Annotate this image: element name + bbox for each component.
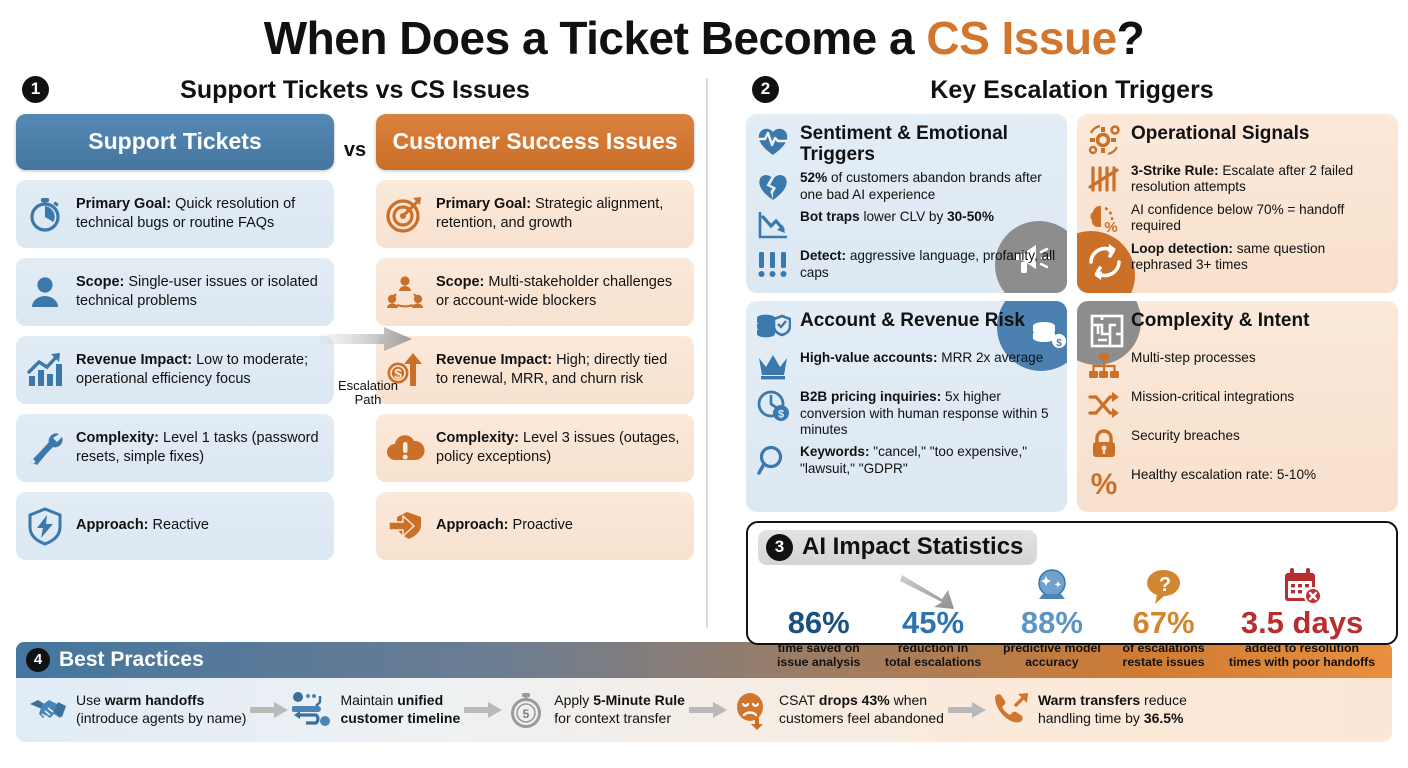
best-practice-item: Use warm handoffs (introduce agents by n… — [28, 690, 246, 730]
question-bubble-icon: ? — [1109, 567, 1218, 607]
stat-caption-line1: predictive model — [995, 641, 1109, 656]
brain-percent-icon: % — [1085, 200, 1123, 236]
stat-caption: of escalations restate issues — [1109, 641, 1218, 670]
panel-row-text: Mission-critical integrations — [1131, 387, 1294, 406]
user-icon — [24, 271, 66, 313]
table-row: Complexity: Level 1 tasks (password rese… — [16, 414, 334, 482]
table-row: $ Revenue Impact: High; directly tied to… — [376, 336, 694, 404]
escalation-label-line2: Path — [320, 393, 416, 408]
title-accent: CS Issue — [926, 12, 1116, 64]
table-row: Primary Goal: Quick resolution of techni… — [16, 180, 334, 248]
stat-caption: time saved on issue analysis — [766, 641, 871, 670]
bp-text-line2-bold: 36.5% — [1144, 710, 1184, 726]
panel-row-bold: 3-Strike Rule: — [1131, 163, 1219, 178]
panel-row-body: Healthy escalation rate: 5-10% — [1131, 467, 1316, 482]
bp-text-3: reduce — [1140, 692, 1187, 708]
flow-arrow-icon — [685, 702, 731, 718]
panel-row-bold2: 30-50% — [947, 209, 994, 224]
trigger-panels-row-2: $ Account & Revenue Risk High-value acco… — [746, 301, 1398, 512]
panel-row-text: Healthy escalation rate: 5-10% — [1131, 465, 1316, 484]
crystal-ball-icon — [995, 567, 1109, 607]
panel-row-text: Multi-step processes — [1131, 348, 1256, 367]
flow-arrow-icon — [246, 702, 292, 718]
svg-text:$: $ — [1056, 338, 1062, 349]
table-row: Revenue Impact: Low to moderate; operati… — [16, 336, 334, 404]
bp-text-bold: 5-Minute Rule — [593, 692, 685, 708]
stopwatch-5-icon: 5 — [506, 690, 546, 730]
best-practice-text: Warm transfers reduce handling time by 3… — [1038, 692, 1187, 727]
panel-heading-text: Sentiment & Emotional Triggers — [800, 122, 1057, 166]
section-3-badge: 3 — [766, 534, 793, 561]
cell-text: Complexity: Level 3 issues (outages, pol… — [436, 429, 682, 466]
panel-row: Mission-critical integrations — [1085, 387, 1388, 423]
bp-text-1: Maintain — [340, 692, 397, 708]
panel-complexity-intent: Complexity & Intent Multi-step processes… — [1077, 301, 1398, 512]
bp-text-bold: unified — [397, 692, 443, 708]
bp-text-line2: handling time by — [1038, 710, 1144, 726]
bar-chart-growth-icon — [24, 349, 66, 391]
percent-icon: % — [1085, 465, 1123, 501]
best-practice-text: CSAT drops 43% when customers feel aband… — [779, 692, 944, 727]
cell-text: Approach: Reactive — [76, 516, 209, 535]
cell-text: Primary Goal: Quick resolution of techni… — [76, 195, 322, 232]
escalation-label-line1: Escalation — [320, 379, 416, 394]
escalation-arrow-icon — [320, 326, 416, 352]
panel-row: $ B2B pricing inquiries: 5x higher conve… — [754, 387, 1057, 439]
panel-heading: Complexity & Intent — [1085, 309, 1388, 345]
bp-text-line2: customers feel abandoned — [779, 710, 944, 727]
stat-item: 3.5 days added to resolution times with … — [1218, 567, 1386, 670]
section-2-title: Key Escalation Triggers — [930, 76, 1213, 105]
panel-row-text: 3-Strike Rule: Escalate after 2 failed r… — [1131, 161, 1388, 196]
section-4-title: Best Practices — [59, 648, 204, 672]
section-4-badge: 4 — [26, 648, 50, 672]
bp-text-bold: warm handoffs — [105, 692, 205, 708]
panel-row: 3-Strike Rule: Escalate after 2 failed r… — [1085, 161, 1388, 197]
section-3-title: AI Impact Statistics — [802, 533, 1023, 561]
stat-caption-line1: of escalations — [1109, 641, 1218, 656]
bp-text-3: when — [890, 692, 927, 708]
cs-issues-column: Customer Success Issues Primary Goal: St… — [376, 114, 694, 560]
section-3-pill: 3 AI Impact Statistics — [758, 530, 1037, 565]
infographic-page: When Does a Ticket Become a CS Issue? 1 … — [0, 0, 1408, 768]
cell-label: Approach: — [436, 517, 509, 533]
stat-value: 45% — [871, 607, 994, 640]
bp-text-1: Use — [76, 692, 105, 708]
stat-value: 86% — [766, 607, 871, 640]
panel-heading: Account & Revenue Risk — [754, 309, 1057, 345]
panel-sentiment: Sentiment & Emotional Triggers 52% of cu… — [746, 114, 1067, 294]
stat-value: 3.5 days — [1218, 607, 1386, 640]
stat-icon-placeholder — [766, 567, 871, 607]
stat-caption: predictive model accuracy — [995, 641, 1109, 670]
panel-operational: Operational Signals 3-Strike Rule: Escal… — [1077, 114, 1398, 294]
escalation-path: Escalation Path — [320, 326, 416, 409]
escalation-path-label: Escalation Path — [320, 379, 416, 409]
stat-value: 67% — [1109, 607, 1218, 640]
cell-body: Proactive — [509, 517, 573, 533]
cell-label: Approach: — [76, 517, 149, 533]
panel-row-body: lower CLV by — [860, 209, 947, 224]
bp-text-line2-bold: customer timeline — [340, 710, 460, 726]
panel-row: Multi-step processes — [1085, 348, 1388, 384]
panel-row-bold: Detect: — [800, 248, 846, 263]
down-right-arrow-icon — [871, 567, 994, 607]
svg-text:?: ? — [1158, 574, 1170, 596]
panel-row-bold: High-value accounts: — [800, 350, 937, 365]
cell-label: Revenue Impact: — [436, 352, 552, 368]
panel-row: Loop detection: same question rephrased … — [1085, 239, 1388, 275]
section-2-badge: 2 — [752, 76, 779, 103]
best-practice-item: Warm transfers reduce handling time by 3… — [990, 690, 1187, 730]
cell-text: Scope: Multi-stakeholder challenges or a… — [436, 273, 682, 310]
stat-caption: added to resolution times with poor hand… — [1218, 641, 1386, 670]
bp-text-1: CSAT — [779, 692, 819, 708]
cell-text: Revenue Impact: High; directly tied to r… — [436, 351, 682, 388]
cell-text: Approach: Proactive — [436, 516, 573, 535]
hierarchy-icon — [1085, 348, 1123, 384]
panel-row-text: Bot traps lower CLV by 30-50% — [800, 207, 994, 226]
panel-row-body: Mission-critical integrations — [1131, 389, 1294, 404]
stat-caption-line1: added to resolution — [1218, 641, 1386, 656]
cell-label: Scope: — [76, 274, 124, 290]
panel-row-text: B2B pricing inquiries: 5x higher convers… — [800, 387, 1057, 439]
page-title: When Does a Ticket Become a CS Issue? — [16, 0, 1392, 68]
panel-row: Detect: aggressive language, profanity, … — [754, 246, 1057, 282]
title-part-2: ? — [1117, 12, 1145, 64]
section-2-header: 2 Key Escalation Triggers — [746, 74, 1398, 108]
best-practices-flow: Use warm handoffs (introduce agents by n… — [16, 678, 1392, 742]
panel-row-bold: 52% — [800, 170, 827, 185]
tools-icon — [24, 427, 66, 469]
section-1-title: Support Tickets vs CS Issues — [180, 76, 530, 105]
stat-caption-line1: time saved on — [766, 641, 871, 656]
best-practice-text: Use warm handoffs (introduce agents by n… — [76, 692, 246, 727]
panel-row-body: Security breaches — [1131, 428, 1240, 443]
table-row: Approach: Reactive — [16, 492, 334, 560]
main-columns: 1 Support Tickets vs CS Issues Support T… — [16, 74, 1392, 634]
panel-heading: Sentiment & Emotional Triggers — [754, 122, 1057, 166]
stat-caption-line2: total escalations — [871, 655, 994, 670]
panel-row-text: Detect: aggressive language, profanity, … — [800, 246, 1057, 281]
table-row: Scope: Multi-stakeholder challenges or a… — [376, 258, 694, 326]
magnifier-icon — [754, 442, 792, 478]
best-practice-text: Maintain unified customer timeline — [340, 692, 460, 727]
bp-text-bold: drops 43% — [819, 692, 890, 708]
cell-label: Revenue Impact: — [76, 352, 192, 368]
panel-row: 52% of customers abandon brands after on… — [754, 168, 1057, 204]
panel-row-bold: B2B pricing inquiries: — [800, 389, 941, 404]
panel-row-bold: Keywords: — [800, 444, 870, 459]
phone-up-arrow-icon — [990, 690, 1030, 730]
flow-arrow-icon — [944, 702, 990, 718]
section-3-header: 3 AI Impact Statistics — [758, 530, 1386, 565]
stat-item: 45% reduction in total escalations — [871, 567, 994, 670]
panel-row-body: MRR 2x average — [937, 350, 1043, 365]
cs-issues-header: Customer Success Issues — [376, 114, 694, 170]
section-1-badge: 1 — [22, 76, 49, 103]
crown-icon — [754, 348, 792, 384]
panel-heading: Operational Signals — [1085, 122, 1388, 158]
panel-row: % AI confidence below 70% = handoff requ… — [1085, 200, 1388, 236]
panel-row-body: AI confidence below 70% = handoff requir… — [1131, 202, 1344, 234]
section-support-vs-cs: 1 Support Tickets vs CS Issues Support T… — [16, 74, 694, 634]
stat-caption-line2: times with poor handoffs — [1218, 655, 1386, 670]
panel-row-text: High-value accounts: MRR 2x average — [800, 348, 1043, 367]
clock-money-icon: $ — [754, 387, 792, 423]
bp-text-bold: Warm transfers — [1038, 692, 1140, 708]
vs-label: vs — [344, 139, 366, 162]
coins-shield-icon — [754, 309, 792, 345]
handshake-icon — [28, 690, 68, 730]
gears-cycle-icon — [1085, 122, 1123, 158]
table-row: Approach: Proactive — [376, 492, 694, 560]
panel-row-text: Loop detection: same question rephrased … — [1131, 239, 1388, 274]
svg-text:$: $ — [778, 409, 784, 421]
cloud-alert-icon — [384, 427, 426, 469]
panel-heading-text: Complexity & Intent — [1131, 309, 1309, 331]
cell-label: Complexity: — [436, 430, 519, 446]
panel-heading-text: Account & Revenue Risk — [800, 309, 1025, 331]
support-tickets-column: Support Tickets Primary Goal: Quick reso… — [16, 114, 334, 560]
sad-face-down-icon — [731, 690, 771, 730]
stats-row: 86% time saved on issue analysis — [758, 567, 1386, 670]
exclamation-marks-icon — [754, 246, 792, 282]
timeline-flow-icon — [292, 690, 332, 730]
stat-caption-line2: issue analysis — [766, 655, 871, 670]
panel-row: % Healthy escalation rate: 5-10% — [1085, 465, 1388, 501]
cell-label: Primary Goal: — [436, 196, 531, 212]
table-row: Complexity: Level 3 issues (outages, pol… — [376, 414, 694, 482]
panel-row-text: 52% of customers abandon brands after on… — [800, 168, 1057, 203]
flow-arrow-icon — [460, 702, 506, 718]
stat-caption-line2: restate issues — [1109, 655, 1218, 670]
panel-row: High-value accounts: MRR 2x average — [754, 348, 1057, 384]
panel-account-revenue: $ Account & Revenue Risk High-value acco… — [746, 301, 1067, 512]
panel-row-body: of customers abandon brands after one ba… — [800, 170, 1042, 202]
svg-text:%: % — [1091, 468, 1118, 498]
shield-bolt-icon — [24, 505, 66, 547]
section-1-header: 1 Support Tickets vs CS Issues — [16, 74, 694, 108]
calendar-x-icon — [1218, 567, 1386, 607]
cell-label: Scope: — [436, 274, 484, 290]
trigger-panels-row-1: Sentiment & Emotional Triggers 52% of cu… — [746, 114, 1398, 294]
column-divider — [706, 78, 708, 628]
best-practice-text: Apply 5-Minute Rule for context transfer — [554, 692, 685, 727]
stat-caption: reduction in total escalations — [871, 641, 994, 670]
support-tickets-header: Support Tickets — [16, 114, 334, 170]
section-escalation-triggers: 2 Key Escalation Triggers Sentiment & Em… — [720, 74, 1398, 634]
bp-text-line2: (introduce agents by name) — [76, 710, 246, 727]
cell-body: Reactive — [149, 517, 209, 533]
panel-row: Bot traps lower CLV by 30-50% — [754, 207, 1057, 243]
cell-label: Primary Goal: — [76, 196, 171, 212]
best-practice-item: CSAT drops 43% when customers feel aband… — [731, 690, 944, 730]
panel-heading-text: Operational Signals — [1131, 122, 1309, 144]
cell-text: Primary Goal: Strategic alignment, reten… — [436, 195, 682, 232]
cell-text: Complexity: Level 1 tasks (password rese… — [76, 429, 322, 466]
stat-item: 88% predictive model accuracy — [995, 567, 1109, 670]
svg-text:5: 5 — [523, 707, 530, 721]
lock-icon — [1085, 426, 1123, 462]
heartbeat-icon — [754, 122, 792, 158]
bp-text-1: Apply — [554, 692, 593, 708]
stat-item: ? 67% of escalations restate issues — [1109, 567, 1218, 670]
panel-row: Security breaches — [1085, 426, 1388, 462]
bp-text-line2: for context transfer — [554, 710, 685, 727]
best-practice-item: Maintain unified customer timeline — [292, 690, 460, 730]
stat-value: 88% — [995, 607, 1109, 640]
shuffle-icon — [1085, 387, 1123, 423]
stakeholders-icon — [384, 271, 426, 313]
spacer-icon — [1085, 239, 1123, 275]
heading-spacer-icon — [1085, 309, 1123, 345]
panel-row: Keywords: "cancel," "too expensive," "la… — [754, 442, 1057, 478]
stat-item: 86% time saved on issue analysis — [766, 567, 871, 670]
panel-row-bold: Loop detection: — [1131, 241, 1233, 256]
table-row: Primary Goal: Strategic alignment, reten… — [376, 180, 694, 248]
panel-row-bold: Bot traps — [800, 209, 860, 224]
broken-heart-icon — [754, 168, 792, 204]
svg-text:%: % — [1104, 219, 1117, 234]
stat-caption-line2: accuracy — [995, 655, 1109, 670]
declining-chart-icon — [754, 207, 792, 243]
best-practice-item: 5 Apply 5-Minute Rule for context transf… — [506, 690, 685, 730]
tally-marks-icon — [1085, 161, 1123, 197]
arrow-shield-icon — [384, 505, 426, 547]
cell-text: Revenue Impact: Low to moderate; operati… — [76, 351, 322, 388]
stopwatch-icon — [24, 193, 66, 235]
section-ai-impact-statistics: 3 AI Impact Statistics 86% time saved on… — [746, 521, 1398, 645]
panel-row-text: Keywords: "cancel," "too expensive," "la… — [800, 442, 1057, 477]
stat-caption-line1: reduction in — [871, 641, 994, 656]
panel-row-body: Multi-step processes — [1131, 350, 1256, 365]
cell-text: Scope: Single-user issues or isolated te… — [76, 273, 322, 310]
panel-row-text: Security breaches — [1131, 426, 1240, 445]
panel-row-text: AI confidence below 70% = handoff requir… — [1131, 200, 1388, 235]
target-arrow-icon — [384, 193, 426, 235]
table-row: Scope: Single-user issues or isolated te… — [16, 258, 334, 326]
cell-label: Complexity: — [76, 430, 159, 446]
title-part-1: When Does a Ticket Become a — [264, 12, 927, 64]
